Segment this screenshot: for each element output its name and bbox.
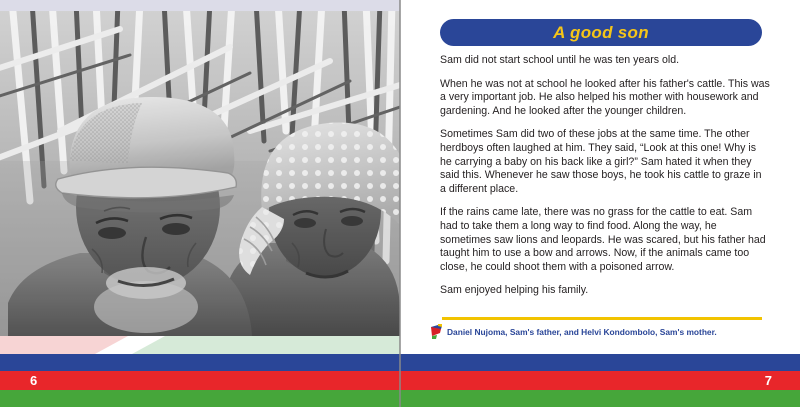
book-spread: A good son Sam did not start school unti… xyxy=(0,0,800,407)
story-paragraph: When he was not at school he looked afte… xyxy=(440,78,770,119)
story-body: Sam did not start school until he was te… xyxy=(440,54,770,308)
photo-caption: Daniel Nujoma, Sam's father, and Helvi K… xyxy=(429,324,789,340)
story-paragraph: Sometimes Sam did two of these jobs at t… xyxy=(440,128,770,196)
book-gutter xyxy=(399,0,401,407)
page-title: A good son xyxy=(440,19,762,46)
photo-elderly-couple xyxy=(0,11,400,336)
story-paragraph: Sam did not start school until he was te… xyxy=(440,54,770,68)
caption-text: Daniel Nujoma, Sam's father, and Helvi K… xyxy=(447,327,717,338)
left-page xyxy=(0,0,400,407)
caption-divider xyxy=(442,317,762,320)
story-title-bar: A good son xyxy=(440,19,762,46)
story-paragraph: If the rains came late, there was no gra… xyxy=(440,206,770,274)
story-paragraph: Sam enjoyed helping his family. xyxy=(440,284,770,298)
namibian-flag-icon xyxy=(429,324,444,340)
photo-top-band xyxy=(0,0,400,11)
right-page: A good son Sam did not start school unti… xyxy=(401,0,800,354)
flag-band-decoration xyxy=(0,336,400,354)
page-number-left: 6 xyxy=(30,371,37,390)
page-number-right: 7 xyxy=(765,371,772,390)
